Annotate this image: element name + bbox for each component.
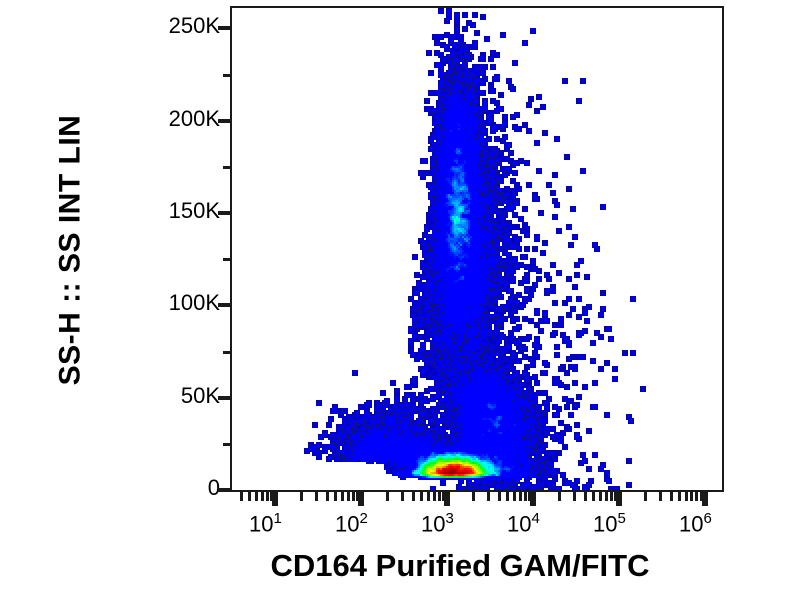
y-tick-label: 100K [60, 290, 220, 316]
y-axis-label-container: SS-H :: SS INT LIN [0, 0, 140, 500]
x-minor-tick [573, 492, 576, 501]
y-major-tick [218, 303, 232, 307]
x-tick-label: 101 [249, 510, 282, 537]
x-tick-exponent: 1 [273, 510, 281, 527]
y-axis-line [230, 6, 232, 492]
y-axis-label: SS-H :: SS INT LIN [53, 115, 87, 386]
x-minor-tick [659, 492, 662, 501]
x-minor-tick [433, 492, 436, 501]
x-tick-base: 10 [679, 511, 703, 536]
x-minor-tick [690, 492, 693, 501]
y-major-tick [218, 119, 232, 123]
x-minor-tick [420, 492, 423, 501]
plot-right-border [722, 6, 724, 492]
x-minor-tick [472, 492, 475, 501]
x-minor-tick [524, 492, 527, 501]
y-major-tick [218, 488, 232, 492]
x-tick-base: 10 [507, 511, 531, 536]
x-tick-base: 10 [249, 511, 273, 536]
y-minor-tick [223, 74, 232, 77]
x-minor-tick [442, 492, 445, 501]
x-minor-tick [614, 492, 617, 501]
x-tick-exponent: 3 [445, 510, 453, 527]
y-minor-tick [223, 166, 232, 169]
x-minor-tick [347, 492, 350, 501]
y-major-tick [218, 211, 232, 215]
x-minor-tick [487, 492, 490, 501]
y-major-tick [218, 26, 232, 30]
x-minor-tick [315, 492, 318, 501]
x-axis-line [230, 490, 722, 492]
x-tick-exponent: 2 [359, 510, 367, 527]
x-tick-label: 106 [679, 510, 712, 537]
x-minor-tick [386, 492, 389, 501]
x-minor-tick [528, 492, 531, 501]
y-minor-tick [223, 351, 232, 354]
x-tick-base: 10 [335, 511, 359, 536]
y-tick-label: 0 [60, 475, 220, 501]
x-minor-tick [255, 492, 258, 501]
x-tick-exponent: 5 [617, 510, 625, 527]
scatter-plot-canvas [232, 6, 722, 490]
x-minor-tick [558, 492, 561, 501]
x-tick-label: 105 [593, 510, 626, 537]
x-minor-tick [584, 492, 587, 501]
x-tick-label: 104 [507, 510, 540, 537]
x-minor-tick [498, 492, 501, 501]
x-minor-tick [341, 492, 344, 501]
x-tick-label: 102 [335, 510, 368, 537]
x-minor-tick [700, 492, 703, 501]
x-minor-tick [356, 492, 359, 501]
x-minor-tick [605, 492, 608, 501]
y-minor-tick [223, 443, 232, 446]
plot-top-border [230, 6, 722, 8]
x-tick-exponent: 4 [531, 510, 539, 527]
x-minor-tick [685, 492, 688, 501]
y-tick-label: 50K [60, 383, 220, 409]
x-minor-tick [326, 492, 329, 501]
y-tick-label: 200K [60, 106, 220, 132]
x-minor-tick [240, 492, 243, 501]
y-major-tick [218, 396, 232, 400]
flow-cytometry-figure: SS-H :: SS INT LIN CD164 Purified GAM/FI… [0, 0, 800, 600]
x-minor-tick [599, 492, 602, 501]
x-minor-tick [248, 492, 251, 501]
x-minor-tick [610, 492, 613, 501]
x-minor-tick [352, 492, 355, 501]
x-minor-tick [401, 492, 404, 501]
x-minor-tick [261, 492, 264, 501]
x-minor-tick [695, 492, 698, 501]
x-minor-tick [506, 492, 509, 501]
x-minor-tick [592, 492, 595, 501]
x-tick-label: 103 [421, 510, 454, 537]
x-minor-tick [670, 492, 673, 501]
x-axis-label: CD164 Purified GAM/FITC [160, 548, 760, 584]
x-minor-tick [412, 492, 415, 501]
x-minor-tick [334, 492, 337, 501]
x-minor-tick [519, 492, 522, 501]
x-minor-tick [438, 492, 441, 501]
x-minor-tick [678, 492, 681, 501]
x-tick-base: 10 [421, 511, 445, 536]
x-minor-tick [270, 492, 273, 501]
x-tick-exponent: 6 [703, 510, 711, 527]
y-tick-label: 150K [60, 198, 220, 224]
x-minor-tick [427, 492, 430, 501]
x-tick-base: 10 [593, 511, 617, 536]
y-minor-tick [223, 258, 232, 261]
x-minor-tick [513, 492, 516, 501]
x-minor-tick [300, 492, 303, 501]
y-tick-label: 250K [60, 13, 220, 39]
x-minor-tick [644, 492, 647, 501]
x-minor-tick [266, 492, 269, 501]
